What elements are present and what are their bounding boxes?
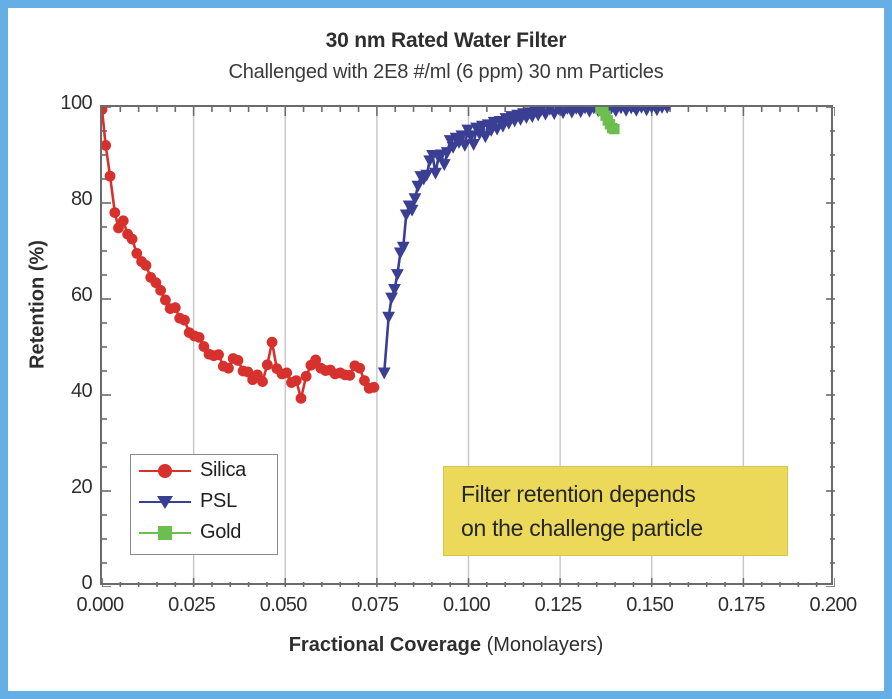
annotation-callout: Filter retention depends on the challeng… <box>443 466 788 556</box>
figure-outer-border: 30 nm Rated Water Filter Challenged with… <box>0 0 892 699</box>
x-tick-label: 0.100 <box>427 594 507 617</box>
x-tick-label: 0.050 <box>243 594 323 617</box>
x-tick-label: 0.025 <box>152 594 232 617</box>
legend-item-psl: PSL <box>131 486 277 517</box>
y-tick-label: 20 <box>18 476 92 499</box>
legend-label-silica: Silica <box>200 459 246 482</box>
y-tick-label: 0 <box>18 572 92 595</box>
chart-title: 30 nm Rated Water Filter <box>8 29 884 53</box>
x-tick-label: 0.125 <box>518 594 598 617</box>
annotation-line-2: on the challenge particle <box>461 511 787 545</box>
x-axis-title-bold: Fractional Coverage <box>289 634 481 656</box>
x-axis-title-units: (Monolayers) <box>481 634 603 656</box>
x-tick-label: 0.000 <box>60 594 140 617</box>
legend-label-gold: Gold <box>200 521 241 544</box>
legend: Silica PSL Gold <box>130 454 278 555</box>
square-marker-icon <box>158 526 172 540</box>
legend-swatch-psl <box>139 491 191 513</box>
chart-subtitle: Challenged with 2E8 #/ml (6 ppm) 30 nm P… <box>8 61 884 84</box>
x-axis-title: Fractional Coverage (Monolayers) <box>8 634 884 657</box>
x-tick-label: 0.075 <box>335 594 415 617</box>
circle-marker-icon <box>158 464 172 478</box>
x-tick-label: 0.150 <box>610 594 690 617</box>
legend-swatch-gold <box>139 522 191 544</box>
annotation-line-1: Filter retention depends <box>461 477 787 511</box>
legend-label-psl: PSL <box>200 490 237 513</box>
legend-item-gold: Gold <box>131 517 277 548</box>
x-tick-label: 0.175 <box>701 594 781 617</box>
legend-swatch-silica <box>139 460 191 482</box>
y-tick-label: 100 <box>18 92 92 115</box>
data-series-layer <box>102 107 674 404</box>
x-tick-label: 0.200 <box>793 594 873 617</box>
figure-canvas: 30 nm Rated Water Filter Challenged with… <box>8 8 884 691</box>
legend-item-silica: Silica <box>131 455 277 486</box>
y-axis-title: Retention (%) <box>27 205 50 405</box>
triangle-down-marker-icon <box>157 496 173 509</box>
